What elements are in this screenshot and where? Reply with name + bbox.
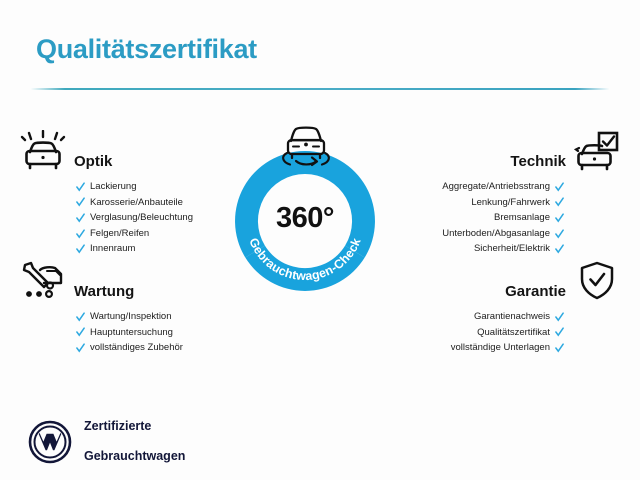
section-title-optik: Optik (74, 153, 112, 170)
section-title-wrap: Optik (74, 153, 225, 172)
page-title: Qualitätszertifikat (36, 34, 257, 65)
section-optik: Optik Lackierung Karosserie/Anbauteile V… (20, 128, 225, 257)
list-item: Lenkung/Fahrwerk (415, 195, 620, 211)
list-item-label: Karosserie/Anbauteile (90, 195, 183, 211)
check-icon (555, 182, 564, 192)
list-item: Garantienachweis (415, 309, 620, 325)
list-item: Unterboden/Abgasanlage (415, 226, 620, 242)
section-title-wrap: Garantie (415, 283, 566, 302)
check-icon (555, 327, 564, 337)
checklist-wartung: Wartung/Inspektion Hauptuntersuchung vol… (20, 309, 225, 356)
badge-value: 360° (232, 202, 378, 235)
check-badge: Gebrauchtwagen-Check 360° (232, 148, 378, 294)
list-item-label: vollständige Unterlagen (451, 340, 550, 356)
check-icon (555, 312, 564, 322)
check-icon (76, 244, 85, 254)
check-icon (76, 197, 85, 207)
list-item-label: Lackierung (90, 179, 136, 195)
list-item-label: Hauptuntersuchung (90, 325, 173, 341)
section-wartung: Wartung Wartung/Inspektion Hauptuntersuc… (20, 258, 225, 356)
wrench-car-icon (20, 260, 66, 302)
car-polish-icon (20, 130, 66, 172)
certificate-page: Qualitätszertifikat Optik (0, 0, 640, 480)
check-icon (555, 197, 564, 207)
list-item: Aggregate/Antriebsstrang (415, 179, 620, 195)
list-item: Wartung/Inspektion (20, 309, 225, 325)
check-icon (76, 182, 85, 192)
brand-text: Zertifizierte Gebrauchtwagen (84, 404, 185, 479)
section-title-wartung: Wartung (74, 283, 134, 300)
section-title-wrap: Technik (415, 153, 566, 172)
checklist-optik: Lackierung Karosserie/Anbauteile Verglas… (20, 179, 225, 257)
list-item-label: Aggregate/Antriebsstrang (442, 179, 550, 195)
list-item: vollständige Unterlagen (415, 340, 620, 356)
list-item: Hauptuntersuchung (20, 325, 225, 341)
check-icon (76, 312, 85, 322)
list-item-label: Unterboden/Abgasanlage (442, 226, 550, 242)
brand-line-1: Zertifizierte (84, 419, 185, 434)
check-icon (555, 343, 564, 353)
list-item: Verglasung/Beleuchtung (20, 210, 225, 226)
list-item-label: vollständiges Zubehör (90, 340, 183, 356)
list-item: Sicherheit/Elektrik (415, 241, 620, 257)
list-item-label: Innenraum (90, 241, 135, 257)
list-item-label: Wartung/Inspektion (90, 309, 172, 325)
check-icon (555, 229, 564, 239)
check-icon (76, 229, 85, 239)
list-item: Lackierung (20, 179, 225, 195)
list-item: Felgen/Reifen (20, 226, 225, 242)
list-item-label: Bremsanlage (494, 210, 550, 226)
list-item: Qualitätszertifikat (415, 325, 620, 341)
brand-line-2: Gebrauchtwagen (84, 449, 185, 464)
car-checkbox-icon (574, 130, 620, 172)
list-item-label: Garantienachweis (474, 309, 550, 325)
section-header: Technik (415, 128, 620, 172)
car-rotation-icon (278, 120, 334, 172)
check-icon (76, 327, 85, 337)
list-item-label: Felgen/Reifen (90, 226, 149, 242)
check-icon (555, 213, 564, 223)
check-icon (76, 343, 85, 353)
section-title-garantie: Garantie (505, 283, 566, 300)
check-icon (76, 213, 85, 223)
list-item-label: Lenkung/Fahrwerk (471, 195, 550, 211)
section-garantie: Garantie Garantienachweis Qualitätszerti… (415, 258, 620, 356)
brand-lockup: Zertifizierte Gebrauchtwagen (28, 404, 185, 479)
section-header: Optik (20, 128, 225, 172)
list-item: Innenraum (20, 241, 225, 257)
section-title-wrap: Wartung (74, 283, 225, 302)
list-item: Bremsanlage (415, 210, 620, 226)
title-divider (30, 88, 610, 90)
vw-logo-icon (28, 420, 72, 464)
list-item-label: Sicherheit/Elektrik (474, 241, 550, 257)
section-title-technik: Technik (510, 153, 566, 170)
section-header: Wartung (20, 258, 225, 302)
list-item-label: Qualitätszertifikat (477, 325, 550, 341)
list-item: Karosserie/Anbauteile (20, 195, 225, 211)
checklist-garantie: Garantienachweis Qualitätszertifikat vol… (415, 309, 620, 356)
list-item: vollständiges Zubehör (20, 340, 225, 356)
check-icon (555, 244, 564, 254)
section-header: Garantie (415, 258, 620, 302)
checklist-technik: Aggregate/Antriebsstrang Lenkung/Fahrwer… (415, 179, 620, 257)
list-item-label: Verglasung/Beleuchtung (90, 210, 193, 226)
shield-check-icon (574, 260, 620, 302)
section-technik: Technik Aggregate/Antriebsstrang Lenkung… (415, 128, 620, 257)
